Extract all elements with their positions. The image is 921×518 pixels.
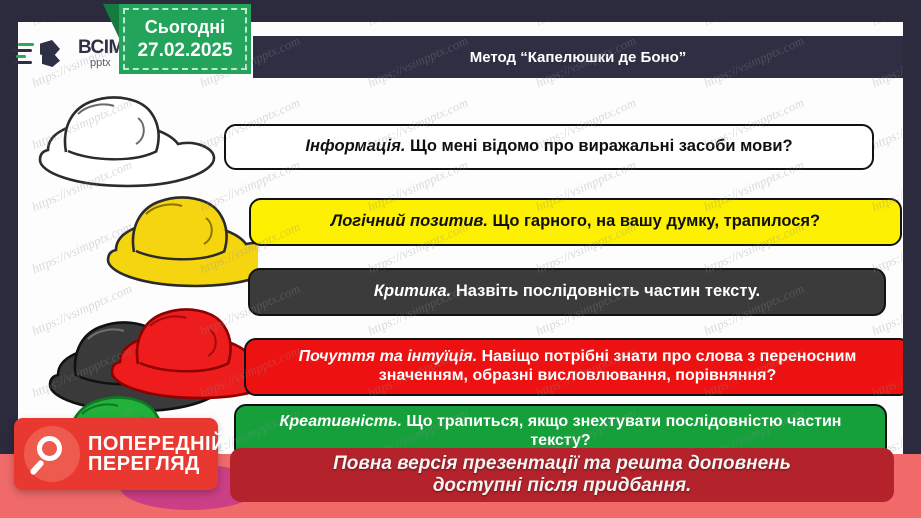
notice-line1: Повна версія презентації та решта доповн…	[333, 453, 791, 474]
speed-lines-icon	[10, 43, 36, 64]
slide-root: Інформація. Що мені відомо про виражальн…	[0, 0, 921, 518]
bar-text-yellow: Що гарного, на вашу думку, трапилося?	[488, 212, 820, 230]
magnifier-icon	[24, 426, 80, 482]
brand-name: ВСІМ	[78, 38, 124, 57]
bar-lead-green: Креативність.	[280, 413, 402, 430]
yellow-hat-icon	[108, 198, 258, 286]
page-title: Метод “Капелюшки де Боно”	[470, 49, 686, 66]
graduation-cap-icon	[40, 38, 74, 68]
hat-bar-red[interactable]: Почуття та інтуїція. Навіщо потрібні зна…	[244, 338, 903, 396]
bar-lead-white: Інформація.	[305, 137, 405, 155]
brand-logo: ВСІМ pptx	[10, 30, 125, 76]
hat-bar-yellow[interactable]: Логічний позитив. Що гарного, на вашу ду…	[249, 198, 902, 246]
bar-lead-yellow: Логічний позитив.	[331, 212, 488, 230]
slide-title-bar: Метод “Капелюшки де Боно”	[253, 36, 903, 78]
date-badge-value: 27.02.2025	[137, 40, 232, 62]
bar-lead-red: Почуття та інтуїція.	[299, 348, 478, 365]
date-badge-label: Сьогодні	[145, 17, 225, 38]
white-hat-icon	[40, 98, 214, 186]
preview-label-line2: ПЕРЕГЛЯД	[88, 454, 226, 474]
purchase-notice-overlay: Повна версія презентації та решта доповн…	[230, 448, 894, 502]
preview-badge[interactable]: ПОПЕРЕДНІЙ ПЕРЕГЛЯД	[14, 418, 218, 490]
bar-lead-black: Критика.	[374, 282, 451, 300]
preview-label-line1: ПОПЕРЕДНІЙ	[88, 434, 226, 454]
hat-bar-white[interactable]: Інформація. Що мені відомо про виражальн…	[224, 124, 874, 170]
bar-text-black: Назвіть послідовність частин тексту.	[451, 282, 760, 300]
bar-text-white: Що мені відомо про виражальні засоби мов…	[405, 137, 792, 155]
date-badge: Сьогодні 27.02.2025	[119, 4, 251, 74]
hat-bar-black[interactable]: Критика. Назвіть послідовність частин те…	[248, 268, 886, 316]
bar-text-green: Що трапиться, якщо знехтувати послідовні…	[402, 413, 841, 449]
notice-line2: доступні після придбання.	[433, 475, 692, 496]
